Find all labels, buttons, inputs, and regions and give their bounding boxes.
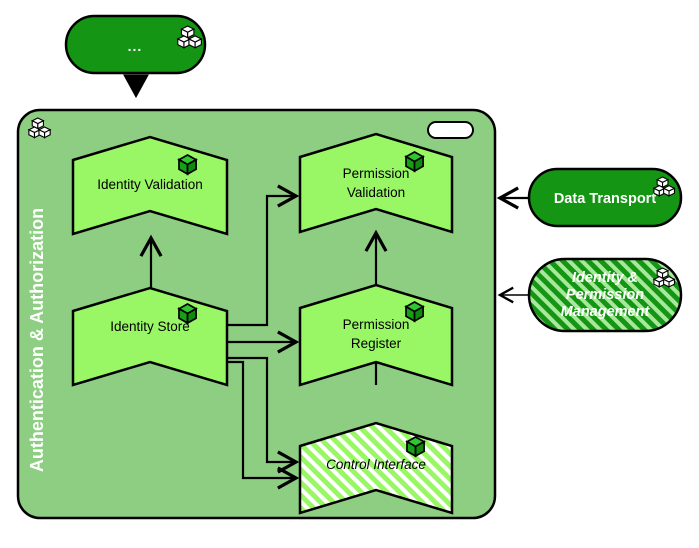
collapse-pill-badge[interactable] [428, 122, 473, 138]
node-permission-validation-label-line2: Validation [347, 185, 405, 200]
external-node-ellipsis[interactable]: ... [66, 16, 205, 73]
node-permission-register-label-line2: Register [351, 336, 402, 351]
external-node-ellipsis-label: ... [128, 38, 143, 54]
node-permission-register-label-line1: Permission [343, 317, 410, 332]
external-node-data-transport[interactable]: Data Transport [529, 169, 681, 226]
cube-icon [407, 437, 424, 456]
external-node-identity-permission-management-label-line2: Permission [566, 287, 644, 303]
node-identity-validation-label: Identity Validation [97, 177, 203, 192]
architecture-diagram: ... [0, 0, 699, 548]
cube-icon [406, 152, 423, 171]
node-identity-store-label: Identity Store [110, 319, 190, 334]
node-permission-validation-label-line1: Permission [343, 166, 410, 181]
cube-icon [179, 155, 196, 174]
cube-icon [179, 304, 196, 323]
external-node-data-transport-label: Data Transport [554, 191, 656, 207]
node-control-interface-label: Control Interface [326, 457, 426, 472]
external-node-identity-permission-management-label-line1: Identity & [572, 270, 638, 286]
cube-icon [406, 302, 423, 321]
group-title: Authentication & Authorization [27, 208, 47, 472]
external-node-identity-permission-management[interactable]: Identity & Permission Management [529, 259, 681, 331]
external-node-identity-permission-management-label-line3: Management [561, 304, 651, 320]
